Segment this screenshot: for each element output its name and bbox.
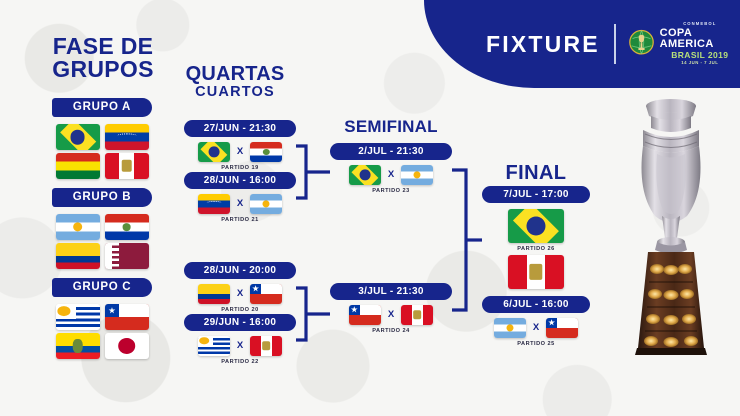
qf2-date-badge: 28/JUN - 16:00	[184, 172, 296, 189]
qf3-partido-label: PARTIDO 20	[184, 307, 296, 313]
match-final: 7/JUL - 17:00 PARTIDO 26	[482, 186, 590, 289]
qf2-partido-label: PARTIDO 21	[184, 217, 296, 223]
group-a-label: GRUPO A	[52, 98, 152, 117]
flag-ecuador	[56, 333, 100, 359]
sf2-teams: X	[330, 305, 452, 325]
copa-america-trophy-icon	[612, 92, 730, 364]
flag-colombia	[56, 243, 100, 269]
group-c-label: GRUPO C	[52, 278, 152, 297]
trophy-globe-emblem	[628, 27, 655, 61]
quarters-stage-heading: QUARTAS CUARTOS	[178, 64, 292, 100]
sf1-versus: X	[388, 169, 394, 180]
group-a-flags	[52, 124, 152, 179]
third-place-date-badge: 6/JUL - 16:00	[482, 296, 590, 313]
flag-venezuela	[198, 194, 230, 214]
copa-america-logo: CONMEBOL COPA AMERICA BRASIL 2019 14 JUN…	[628, 22, 740, 66]
logo-brasil-year-text: BRASIL 2019	[671, 51, 728, 60]
flag-peru	[105, 153, 149, 179]
flag-argentina	[56, 214, 100, 240]
flag-bolivia	[56, 153, 100, 179]
flag-japan	[105, 333, 149, 359]
flag-argentina	[401, 165, 433, 185]
match-semifinal-1: 2/JUL - 21:30 X PARTIDO 23	[330, 143, 452, 194]
quarters-heading-main: QUARTAS	[186, 63, 285, 85]
qf1-versus: X	[237, 146, 243, 157]
flag-paraguay	[250, 142, 282, 162]
flag-paraguay	[105, 214, 149, 240]
match-third-place: 6/JUL - 16:00 X PARTIDO 25	[482, 296, 590, 347]
flag-qatar	[105, 243, 149, 269]
sf1-teams: X	[330, 165, 452, 185]
qf3-date-badge: 28/JUN - 20:00	[184, 262, 296, 279]
group-c-block: GRUPO C	[52, 278, 152, 359]
qf1-date-badge: 27/JUN - 21:30	[184, 120, 296, 137]
qf4-teams: X	[184, 336, 296, 356]
flag-peru	[250, 336, 282, 356]
group-a-block: GRUPO A	[52, 98, 152, 179]
third-place-partido-label: PARTIDO 25	[482, 341, 590, 347]
final-teams: PARTIDO 26	[482, 209, 590, 289]
flag-uruguay	[198, 336, 230, 356]
sf2-date-badge: 3/JUL - 21:30	[330, 283, 452, 300]
qf2-teams: X	[184, 194, 296, 214]
match-quarterfinal-2: 28/JUN - 16:00 X PARTIDO 21	[184, 172, 296, 223]
qf1-partido-label: PARTIDO 19	[184, 165, 296, 171]
sf1-partido-label: PARTIDO 23	[330, 188, 452, 194]
final-partido-label: PARTIDO 26	[517, 246, 555, 252]
match-quarterfinal-1: 27/JUN - 21:30 X PARTIDO 19	[184, 120, 296, 171]
group-b-flags	[52, 214, 152, 269]
sf2-partido-label: PARTIDO 24	[330, 328, 452, 334]
qf3-versus: X	[237, 288, 243, 299]
match-quarterfinal-3: 28/JUN - 20:00 X PARTIDO 20	[184, 262, 296, 313]
qf4-partido-label: PARTIDO 22	[184, 359, 296, 365]
flag-chile	[105, 304, 149, 330]
logo-copa-america-text: COPA AMERICA	[660, 28, 740, 50]
final-stage-heading: FINAL	[484, 163, 588, 183]
header-divider	[614, 24, 616, 64]
qf4-versus: X	[237, 340, 243, 351]
group-c-flags	[52, 304, 152, 359]
flag-chile	[250, 284, 282, 304]
group-b-label: GRUPO B	[52, 188, 152, 207]
sf2-versus: X	[388, 309, 394, 320]
sf1-date-badge: 2/JUL - 21:30	[330, 143, 452, 160]
semifinal-stage-heading: SEMIFINAL	[330, 118, 452, 135]
flag-brazil	[508, 209, 564, 243]
quarters-heading-sub: CUARTOS	[178, 85, 292, 100]
qf3-teams: X	[184, 284, 296, 304]
group-b-block: GRUPO B	[52, 188, 152, 269]
flag-venezuela	[105, 124, 149, 150]
groups-stage-heading: FASE DE GRUPOS	[34, 35, 172, 82]
flag-brazil	[198, 142, 230, 162]
match-quarterfinal-4: 29/JUN - 16:00 X PARTIDO 22	[184, 314, 296, 365]
qf1-teams: X	[184, 142, 296, 162]
qf4-date-badge: 29/JUN - 16:00	[184, 314, 296, 331]
qf2-versus: X	[237, 198, 243, 209]
page-title: FIXTURE	[486, 31, 600, 58]
flag-chile	[349, 305, 381, 325]
logo-dates-text: 14 JUN - 7 JUL	[681, 61, 718, 65]
third-place-teams: X	[482, 318, 590, 338]
final-date-badge: 7/JUL - 17:00	[482, 186, 590, 203]
flag-brazil	[56, 124, 100, 150]
flag-colombia	[198, 284, 230, 304]
flag-argentina	[250, 194, 282, 214]
groups-heading-line2: GRUPOS	[52, 56, 153, 82]
flag-brazil	[349, 165, 381, 185]
flag-uruguay	[56, 304, 100, 330]
flag-chile	[546, 318, 578, 338]
third-place-versus: X	[533, 322, 539, 333]
groups-heading-line1: FASE DE	[53, 33, 154, 59]
flag-argentina	[494, 318, 526, 338]
flag-peru	[401, 305, 433, 325]
logo-conmebol-text: CONMEBOL	[683, 22, 716, 26]
flag-peru	[508, 255, 564, 289]
match-semifinal-2: 3/JUL - 21:30 X PARTIDO 24	[330, 283, 452, 334]
